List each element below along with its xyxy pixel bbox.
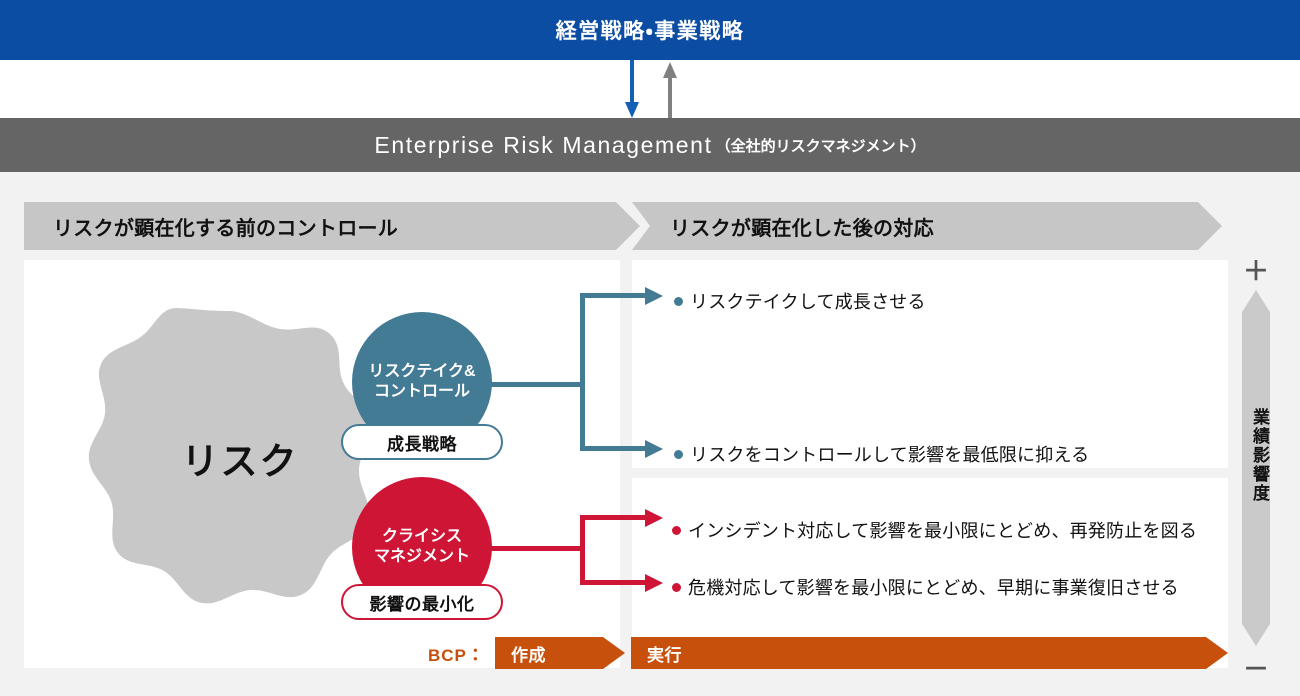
banner-before-label: リスクが顕在化する前のコントロール [24, 212, 398, 241]
pill-growth-strategy[interactable]: 成長戦略 [341, 424, 503, 460]
arrow-up-icon [668, 62, 672, 120]
connector-crisis-stem [490, 546, 582, 551]
connector-risktake-vertical [580, 293, 585, 451]
arrow-down-shaft [630, 60, 634, 104]
node-risk-take-line2: コントロール [374, 382, 470, 402]
connector-crisis-branch-bottom [580, 580, 650, 585]
banner-after-label: リスクが顕在化した後の対応 [632, 212, 934, 241]
connector-crisis-branch-top [580, 515, 650, 520]
connector-risktake-branch-bottom [580, 446, 650, 451]
erm-title-jp: （全社的リスクマネジメント） [716, 135, 926, 156]
pill-impact-minimization[interactable]: 影響の最小化 [341, 584, 503, 620]
node-risk-take-line1: リスクテイク& [368, 362, 475, 382]
outcome-item: リスクテイクして成長させる [674, 288, 926, 314]
strategy-bar: 経営戦略・事業戦略 [0, 0, 1300, 60]
arrow-right-icon [645, 509, 663, 527]
connector-crisis [490, 512, 670, 592]
erm-title-en: Enterprise Risk Management [374, 132, 712, 159]
banner-before-materialization: リスクが顕在化する前のコントロール [24, 202, 640, 250]
connector-risktake [490, 290, 670, 458]
node-crisis-line1: クライシス [382, 527, 462, 547]
outcome-label: リスクをコントロールして影響を最低限に抑える [690, 441, 1089, 467]
risk-blob: リスク [78, 307, 378, 609]
plus-icon: ＋ [1238, 258, 1274, 284]
bcp-phase-execute-label: 実行 [631, 641, 682, 666]
outcome-item: インシデント対応して影響を最小限にとどめ、再発防止を図る [672, 517, 1197, 543]
bcp-phase-execute: 実行 [631, 637, 1228, 669]
risk-blob-label: リスク [78, 307, 378, 609]
flow-arrow-band: 抽出 対策 [0, 60, 1300, 120]
outcome-label: 危機対応して影響を最小限にとどめ、早期に事業復旧させる [688, 574, 1179, 600]
bullet-dot-icon [672, 583, 681, 592]
pill-impact-minimization-label: 影響の最小化 [370, 590, 475, 615]
arrow-right-icon [645, 574, 663, 592]
outcome-label: リスクテイクして成長させる [690, 288, 926, 314]
impact-scale-label: 業績影響度 [1244, 408, 1268, 503]
diagram-canvas: 経営戦略・事業戦略 抽出 対策 Enterprise Risk Manageme… [0, 0, 1300, 696]
bcp-phase-create-label: 作成 [495, 641, 546, 666]
connector-risktake-stem [490, 382, 582, 387]
erm-bar: Enterprise Risk Management （全社的リスクマネジメント… [0, 118, 1300, 172]
connector-risktake-branch-top [580, 293, 650, 298]
strategy-bar-title: 経営戦略・事業戦略 [556, 15, 745, 45]
impact-scale: ＋ 業績影響度 － [1238, 258, 1278, 678]
arrow-up-shaft [668, 76, 672, 120]
bullet-dot-icon [674, 450, 683, 459]
arrow-right-icon [645, 287, 663, 305]
bcp-phase-create: 作成 [495, 637, 625, 669]
pill-growth-strategy-label: 成長戦略 [387, 430, 457, 455]
outcome-item: 危機対応して影響を最小限にとどめ、早期に事業復旧させる [672, 574, 1179, 600]
node-crisis-line2: マネジメント [374, 547, 470, 567]
bullet-dot-icon [672, 526, 681, 535]
arrow-right-icon [645, 440, 663, 458]
arrow-down-head [625, 102, 639, 118]
outcome-label: インシデント対応して影響を最小限にとどめ、再発防止を図る [688, 517, 1197, 543]
arrow-up-head [663, 62, 677, 78]
arrow-down-icon [630, 60, 634, 118]
minus-icon: － [1238, 656, 1274, 682]
connector-crisis-vertical [580, 515, 585, 585]
bullet-dot-icon [674, 297, 683, 306]
banner-after-materialization: リスクが顕在化した後の対応 [632, 202, 1222, 250]
outcome-item: リスクをコントロールして影響を最低限に抑える [674, 441, 1089, 467]
bcp-label: BCP： [428, 641, 485, 666]
